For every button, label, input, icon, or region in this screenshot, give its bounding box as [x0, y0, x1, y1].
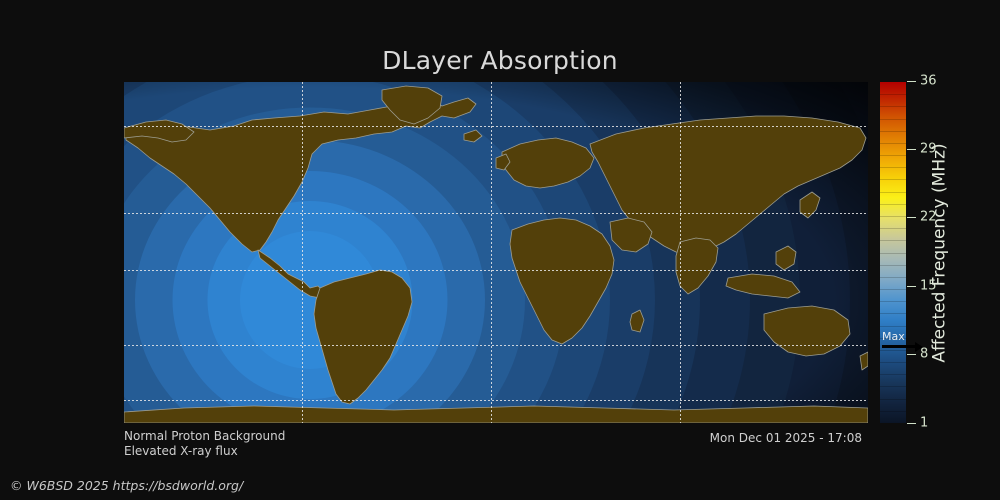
colorbar-tick	[907, 423, 916, 424]
landmass-india	[676, 238, 718, 294]
colorbar-band-divider	[880, 179, 906, 180]
app-root: DLayer Absorption	[0, 0, 1000, 500]
colorbar-band-divider	[880, 167, 906, 168]
colorbar-band-divider	[880, 399, 906, 400]
colorbar-band-divider	[880, 374, 906, 375]
map-canvas	[124, 82, 868, 423]
colorbar-band-divider	[880, 411, 906, 412]
landmass-central-america	[258, 250, 324, 298]
landmass-south-america	[314, 270, 412, 404]
colorbar-band-divider	[880, 301, 906, 302]
colorbar-segment-lines	[880, 82, 906, 423]
colorbar-axis-label-text: Affected Frequency (MHz)	[930, 143, 950, 362]
status-block: Normal Proton Background Elevated X-ray …	[124, 429, 285, 459]
landmass-iceland	[464, 130, 482, 142]
colorbar-band-divider	[880, 253, 906, 254]
landmass-philippines	[776, 246, 796, 270]
colorbar-max-marker: Max	[881, 331, 925, 355]
landmass-north-america	[126, 98, 476, 252]
coastline-layer	[124, 82, 868, 423]
colorbar-band-divider	[880, 143, 906, 144]
landmass-new-zealand	[860, 352, 868, 370]
colorbar-band-divider	[880, 192, 906, 193]
colorbar-band-divider	[880, 277, 906, 278]
colorbar-band-divider	[880, 204, 906, 205]
colorbar-tick	[907, 149, 916, 150]
colorbar-band-divider	[880, 289, 906, 290]
colorbar-band-divider	[880, 313, 906, 314]
colorbar-band-divider	[880, 155, 906, 156]
colorbar-axis-label: Affected Frequency (MHz)	[925, 82, 955, 423]
colorbar-band-divider	[880, 265, 906, 266]
colorbar-max-label: Max	[882, 331, 905, 342]
colorbar[interactable]	[880, 82, 906, 423]
colorbar-band-divider	[880, 228, 906, 229]
landmass-europe	[502, 138, 594, 188]
colorbar-band-divider	[880, 94, 906, 95]
colorbar-band-divider	[880, 240, 906, 241]
landmass-madagascar	[630, 310, 644, 332]
landmass-japan	[800, 192, 820, 218]
colorbar-band-divider	[880, 362, 906, 363]
colorbar-band-divider	[880, 386, 906, 387]
arrow-right-icon	[882, 345, 916, 348]
landmass-indonesia	[726, 274, 800, 298]
colorbar-tick	[907, 217, 916, 218]
colorbar-band-divider	[880, 119, 906, 120]
colorbar-band-divider	[880, 326, 906, 327]
status-proton: Normal Proton Background	[124, 429, 285, 444]
landmass-australia	[764, 306, 850, 356]
colorbar-band-divider	[880, 131, 906, 132]
world-map[interactable]	[124, 82, 868, 423]
colorbar-tick	[907, 286, 916, 287]
copyright-notice: © W6BSD 2025 https://bsdworld.org/	[10, 478, 243, 493]
colorbar-band-divider	[880, 106, 906, 107]
landmass-africa	[510, 218, 614, 344]
timestamp: Mon Dec 01 2025 - 17:08	[710, 431, 862, 445]
status-xray: Elevated X-ray flux	[124, 444, 285, 459]
colorbar-band-divider	[880, 216, 906, 217]
page-title: DLayer Absorption	[0, 46, 1000, 75]
colorbar-tick	[907, 81, 916, 82]
landmass-antarctica	[124, 406, 868, 423]
